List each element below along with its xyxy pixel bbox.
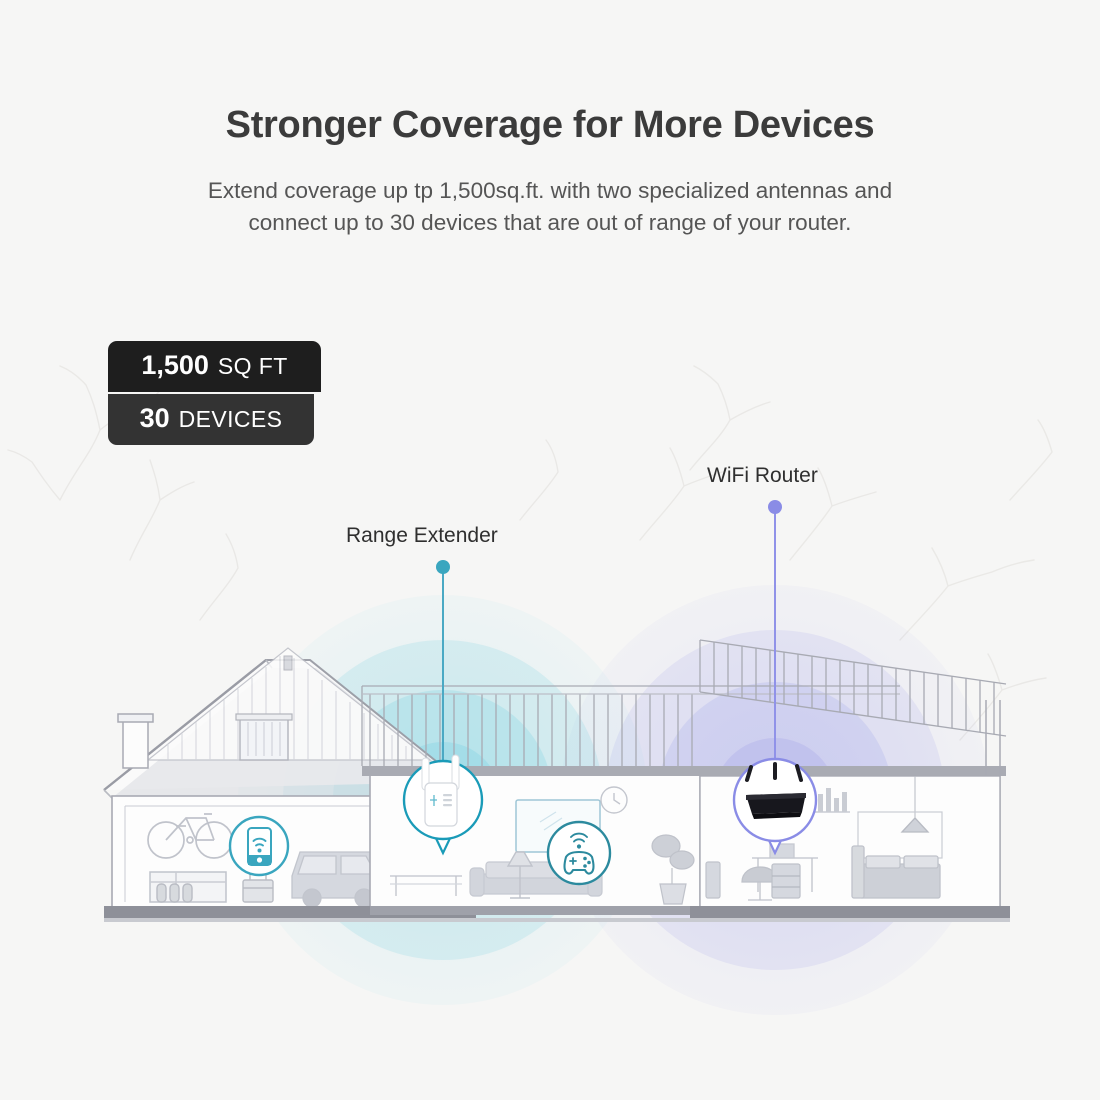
spec-badges: 1,500 SQ FT 30 DEVICES [108,341,338,445]
gable-face [148,648,430,760]
subtitle-line-2: connect up to 30 devices that are out of… [0,207,1100,240]
house-structure [104,640,1010,922]
range-extender-marker [404,560,482,853]
extender-leader-dot [436,560,450,574]
badge-devices-value: 30 [140,403,170,434]
badge-area: 1,500 SQ FT [108,341,321,392]
subtitle-line-1: Extend coverage up tp 1,500sq.ft. with t… [0,175,1100,208]
page-title: Stronger Coverage for More Devices [0,103,1100,149]
attic-window [236,714,292,760]
desk-chair [742,844,818,900]
television [516,800,600,852]
badge-devices: 30 DEVICES [108,394,314,445]
sofa [470,862,602,896]
foundation [104,906,1010,922]
upper-railing [700,640,1006,736]
tool-bins [157,884,192,902]
header-block: Stronger Coverage for More Devices Exten… [0,0,1100,240]
right-wing [652,640,1006,918]
bicycle [148,814,232,858]
router-coverage-rings [560,585,990,1015]
wifi-router-device [746,764,806,819]
right-wall [904,700,1000,918]
nightstand [772,864,800,898]
pendant-lamp [902,776,928,832]
badge-area-unit: SQ FT [218,353,288,380]
garage-room [112,796,462,908]
living-room [362,686,900,908]
potted-plant [652,835,694,904]
extender-coverage-rings [238,595,648,1005]
callout-wifi-router-label: WiFi Router [707,464,818,487]
floor-lamp [508,852,532,898]
garage-roof [104,660,470,798]
badge-devices-unit: DEVICES [179,406,283,433]
balcony-railing [362,686,900,766]
callout-range-extender-label: Range Extender [346,524,498,547]
chimney [118,714,153,768]
callout-wifi-router: WiFi Router [707,464,818,488]
bed [852,846,940,898]
page-subtitle: Extend coverage up tp 1,500sq.ft. with t… [0,175,1100,240]
wall-art [414,786,454,804]
speaker [706,862,720,898]
wall-frame [858,812,942,858]
parked-car [292,852,382,907]
wall-clock [601,787,627,813]
device-icon-game-controller [548,822,610,884]
range-extender-device [422,755,459,826]
coffee-table [390,876,462,896]
toolbox [243,874,273,902]
callout-range-extender: Range Extender [346,524,498,548]
badge-area-value: 1,500 [141,350,209,381]
storage-shelf [150,872,226,902]
device-icon-smartphone [230,817,288,875]
router-leader-dot [768,500,782,514]
wifi-signal-icon [571,834,587,842]
bookshelf [812,788,850,812]
wifi-router-marker [734,500,816,853]
